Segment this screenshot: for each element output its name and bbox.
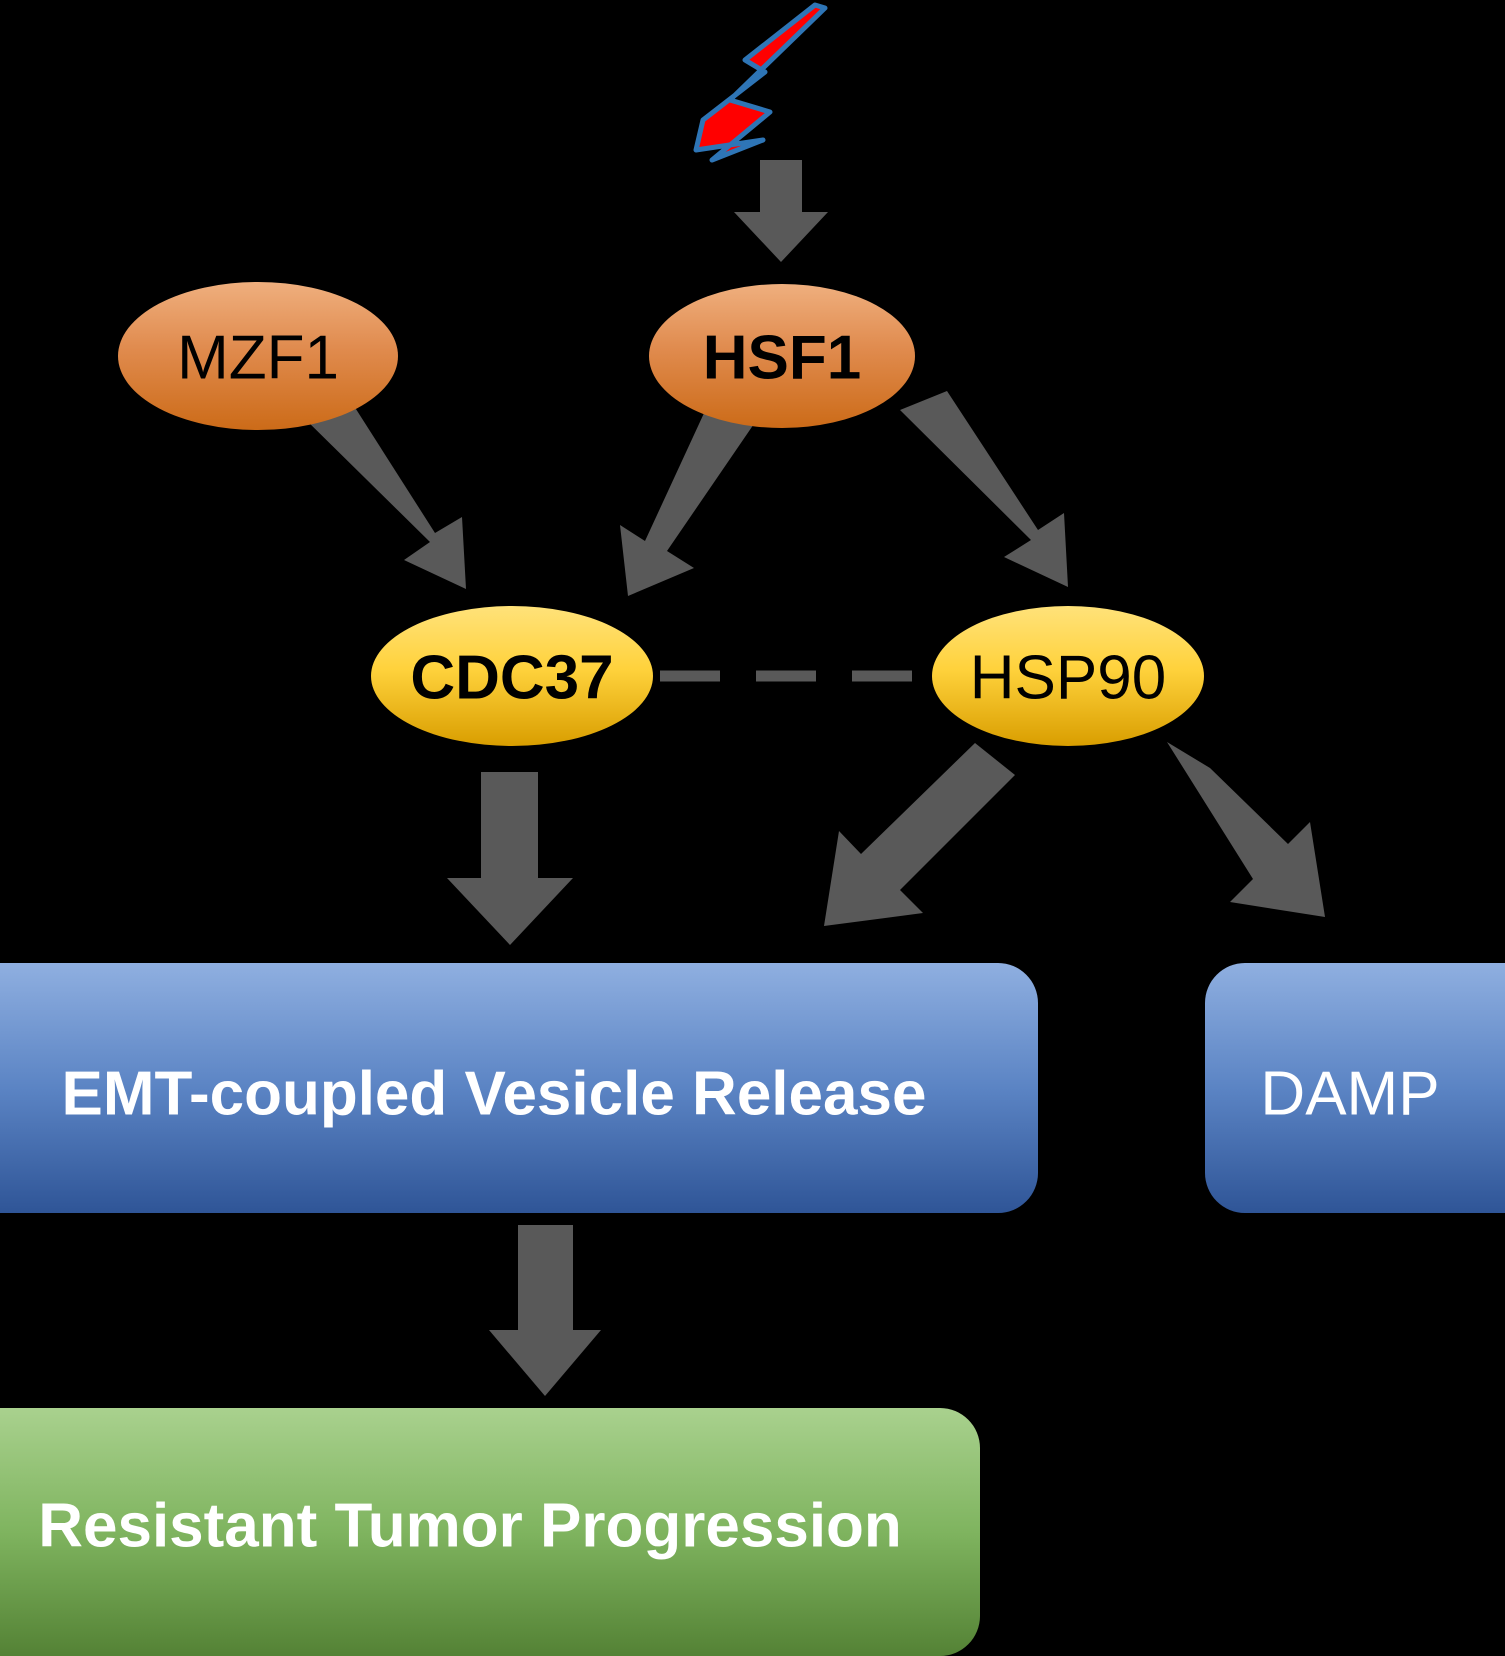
node-hsp90[interactable]: HSP90	[932, 606, 1204, 746]
node-hsp90-label: HSP90	[970, 644, 1166, 713]
arrow-mzf1-to-cdc37	[299, 395, 466, 589]
node-damp[interactable]: DAMP	[1205, 963, 1505, 1213]
node-hsf1[interactable]: HSF1	[649, 284, 915, 428]
node-emt-label: EMT-coupled Vesicle Release	[62, 1060, 927, 1129]
arrow-cdc37-to-emt	[447, 772, 573, 945]
node-mzf1-label: MZF1	[177, 324, 339, 393]
diagram-canvas: MZF1 HSF1 CDC37 HSP90	[0, 0, 1505, 1656]
lightning-bolt-icon	[696, 5, 825, 160]
pathway-diagram: MZF1 HSF1 CDC37 HSP90	[0, 0, 1505, 1656]
node-damp-label: DAMP	[1260, 1060, 1439, 1129]
arrow-hsf1-to-cdc37	[620, 398, 758, 596]
arrow-hsf1-to-hsp90	[900, 391, 1068, 587]
node-cdc37[interactable]: CDC37	[371, 606, 653, 746]
arrow-hsp90-to-damp	[1167, 742, 1325, 917]
node-cdc37-label: CDC37	[410, 644, 613, 713]
node-outcome-label: Resistant Tumor Progression	[38, 1492, 902, 1561]
node-emt-coupled-vesicle-release[interactable]: EMT-coupled Vesicle Release	[0, 963, 1038, 1213]
arrow-hsp90-to-emt	[824, 743, 1015, 926]
arrow-stimulus-to-hsf1	[734, 160, 828, 262]
arrow-emt-to-outcome	[489, 1225, 601, 1396]
node-mzf1[interactable]: MZF1	[118, 282, 398, 430]
node-resistant-tumor-progression[interactable]: Resistant Tumor Progression	[0, 1408, 980, 1656]
node-hsf1-label: HSF1	[703, 324, 861, 393]
